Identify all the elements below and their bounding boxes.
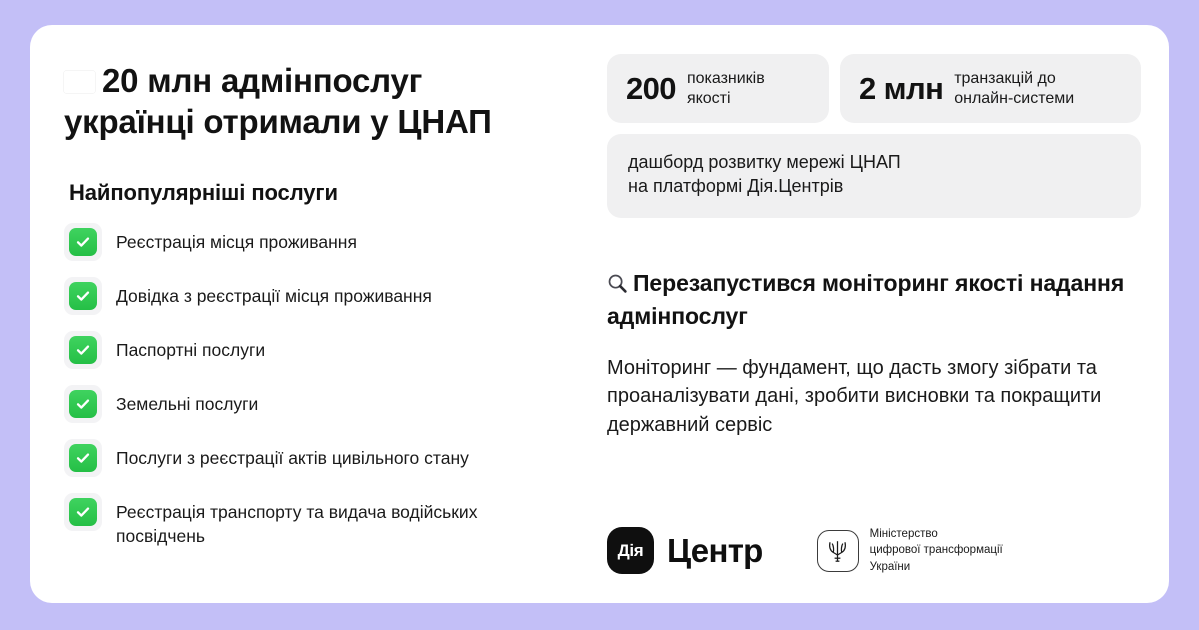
list-item: Реєстрація місця проживання [64,223,593,261]
list-item: Послуги з реєстрації актів цивільного ст… [64,439,593,477]
ministry-name: Міністерство цифрової трансформації Укра… [870,526,1003,575]
monitoring-headline: Перезапустився моніторинг якості надання… [607,268,1132,332]
dia-badge-text: Дія [618,541,644,561]
headline-line-2: українці отримали у ЦНАП [64,103,492,140]
check-mark-icon [64,277,102,315]
list-item-label: Реєстрація місця проживання [116,223,357,255]
ministry-line-2: цифрової трансформації [870,544,1003,556]
footer-logos: Дія Центр [607,526,1003,575]
check-mark-icon [64,223,102,261]
list-item-label: Послуги з реєстрації актів цивільного ст… [116,439,469,471]
ukraine-trident-icon [817,530,859,572]
dia-center-wordmark: Центр [667,532,763,570]
headline-line-1: 20 млн адмінпослуг [102,62,422,99]
ministry-line-3: України [870,561,911,573]
list-item: Паспортні послуги [64,331,593,369]
stat-label-line-2: якості [687,90,731,107]
check-mark-icon [64,385,102,423]
stat-value: 2 млн [859,71,943,107]
ministry-line-1: Міністерство [870,528,938,540]
stats-row: 200 показників якості 2 млн транзакцій д… [607,54,1141,123]
list-item-label: Реєстрація транспорту та видача водійськ… [116,493,486,549]
list-item-label: Паспортні послуги [116,331,265,363]
monitoring-headline-text: Перезапустився моніторинг якості надання… [607,270,1124,330]
list-item-label: Земельні послуги [116,385,258,417]
left-column: 20 млн адмінпослуг українці отримали у Ц… [30,25,593,603]
magnifying-glass-icon [607,271,628,302]
stat-card-transactions: 2 млн транзакцій до онлайн-системи [840,54,1141,123]
stat-card-indicators: 200 показників якості [607,54,829,123]
dashboard-line-1: дашборд розвитку мережі ЦНАП [628,152,901,172]
check-mark-icon [64,331,102,369]
ukraine-flag-icon [64,71,95,93]
page-title: 20 млн адмінпослуг українці отримали у Ц… [64,61,584,143]
stat-label-line-1: показників [687,70,765,87]
list-item: Довідка з реєстрації місця проживання [64,277,593,315]
section-title: Найпопулярніші послуги [69,180,593,206]
stat-value: 200 [626,71,676,107]
infographic-stage: 20 млн адмінпослуг українці отримали у Ц… [0,0,1199,630]
list-item: Реєстрація транспорту та видача водійськ… [64,493,593,549]
check-mark-icon [64,439,102,477]
dashboard-description-card: дашборд розвитку мережі ЦНАП на платформ… [607,134,1141,218]
main-card: 20 млн адмінпослуг українці отримали у Ц… [30,25,1169,603]
right-column: 200 показників якості 2 млн транзакцій д… [593,25,1169,603]
stat-label: транзакцій до онлайн-системи [954,69,1074,108]
monitoring-body-text: Моніторинг — фундамент, що дасть змогу з… [607,354,1141,439]
stat-label-line-2: онлайн-системи [954,90,1074,107]
list-item: Земельні послуги [64,385,593,423]
stat-label-line-1: транзакцій до [954,70,1056,87]
dashboard-line-2: на платформі Дія.Центрів [628,176,843,196]
stat-label: показників якості [687,69,765,108]
ministry-logo: Міністерство цифрової трансформації Укра… [817,526,1003,575]
service-list: Реєстрація місця проживання Довідка з ре… [64,223,593,549]
list-item-label: Довідка з реєстрації місця проживання [116,277,432,309]
dia-logo-badge: Дія [607,527,654,574]
check-mark-icon [64,493,102,531]
